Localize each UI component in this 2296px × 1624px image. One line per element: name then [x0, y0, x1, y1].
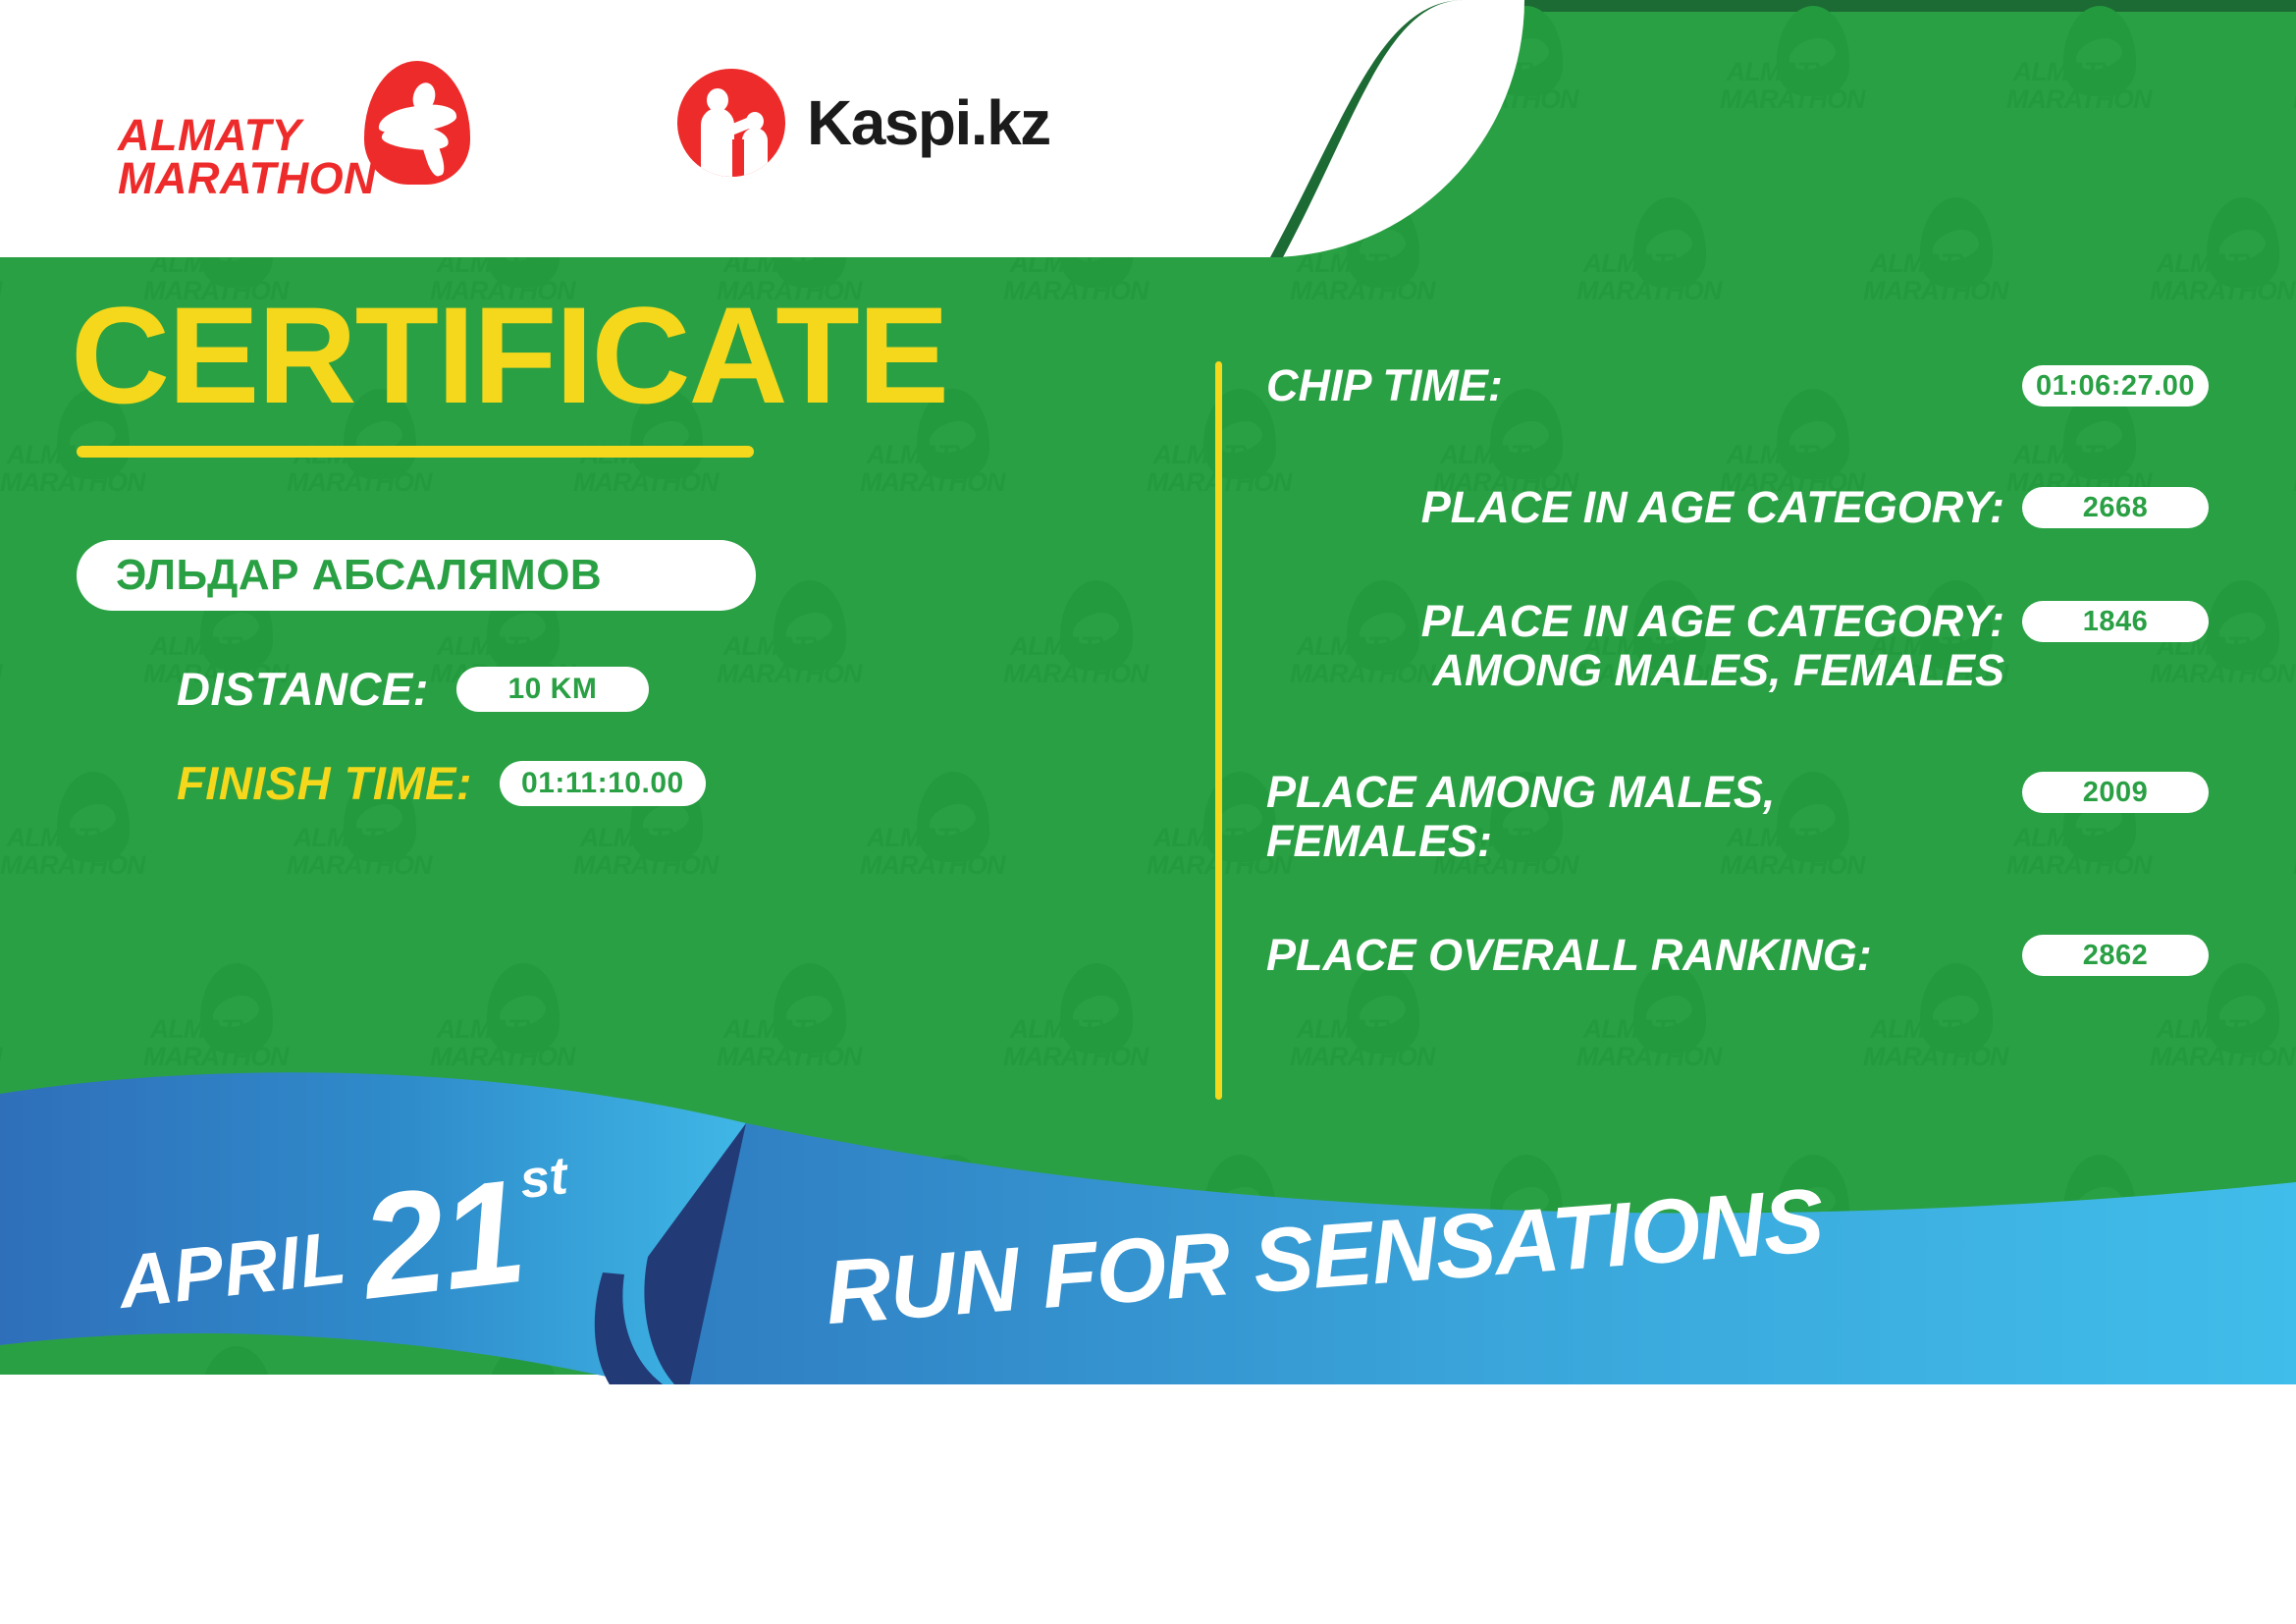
results-column: CHIP TIME: 01:06:27.00 PLACE IN AGE CATE…	[1266, 361, 2209, 1108]
kaspi-wordmark: Kaspi.kz	[807, 86, 1050, 159]
finish-time-value: 01:11:10.00	[521, 767, 684, 800]
kaspi-adult-body	[701, 108, 734, 177]
place-age-category-among-line2: AMONG MALES, FEMALES	[1266, 646, 2004, 695]
vertical-divider	[1215, 361, 1222, 1100]
sponsor-bar	[0, 1384, 2296, 1624]
watermark-runner-icon	[1633, 197, 1706, 288]
distance-value: 10 KM	[507, 673, 597, 706]
watermark-runner-icon	[2207, 580, 2279, 671]
place-age-category-among-value-pill: 1846	[2022, 601, 2209, 642]
title-underline	[77, 446, 754, 458]
place-among-males-females-value: 2009	[2083, 777, 2149, 809]
finish-time-row: FINISH TIME: 01:11:10.00	[177, 756, 706, 810]
event-day: 21	[356, 1167, 529, 1312]
almaty-marathon-line1: ALMATY	[118, 114, 376, 157]
watermark-tile: ALMATYMARATHON	[2150, 203, 2266, 321]
watermark-runner-icon	[2207, 963, 2279, 1054]
place-age-category-label: PLACE IN AGE CATEGORY:	[1266, 483, 2022, 532]
participant-name-field: ЭЛЬДАР АБСАЛЯМОВ	[77, 540, 756, 611]
participant-name-value: ЭЛЬДАР АБСАЛЯМОВ	[116, 551, 602, 600]
watermark-text: ALMATYMARATHON	[2150, 203, 2266, 304]
place-age-category-value-pill: 2668	[2022, 487, 2209, 528]
watermark-runner-icon	[2063, 6, 2136, 96]
event-month: APRIL	[114, 1215, 350, 1326]
place-age-category-value: 2668	[2083, 492, 2149, 524]
running-man-icon	[364, 61, 470, 185]
watermark-runner-icon	[1777, 6, 1849, 96]
almaty-marathon-logo: ALMATY MARATHON	[118, 61, 470, 200]
watermark-text: ALMATYMARATHON	[1720, 12, 1836, 113]
watermark-runner-icon	[1920, 197, 1993, 288]
place-age-category-among-line1: PLACE IN AGE CATEGORY:	[1266, 597, 2004, 646]
watermark-text: ALMATYMARATHON	[2006, 12, 2122, 113]
distance-value-pill: 10 KM	[456, 667, 649, 712]
watermark-tile: ALMATYMARATHON	[1863, 203, 1979, 321]
place-overall-value: 2862	[2083, 940, 2149, 972]
header-curve-shape	[1207, 0, 1463, 257]
certificate-page: ALMATYMARATHONALMATYMARATHONALMATYMARATH…	[0, 0, 2296, 1624]
chip-time-value-pill: 01:06:27.00	[2022, 365, 2209, 406]
chip-time-value: 01:06:27.00	[2036, 370, 2195, 403]
place-overall-value-pill: 2862	[2022, 935, 2209, 976]
place-among-males-females-line2: FEMALES:	[1266, 817, 2022, 866]
finish-time-value-pill: 01:11:10.00	[500, 761, 706, 806]
event-day-ordinal: st	[516, 1145, 570, 1211]
left-column: CERTIFICATE ЭЛЬДАР АБСАЛЯМОВ DISTANCE: 1…	[0, 257, 1207, 1102]
result-row-place-age-category-among: PLACE IN AGE CATEGORY: AMONG MALES, FEMA…	[1266, 597, 2209, 694]
watermark-tile: ALMATYMARATHON	[1720, 12, 1836, 130]
page-title: CERTIFICATE	[71, 287, 947, 424]
watermark-text: ALMATYMARATHON	[1863, 203, 1979, 304]
result-row-place-among-males-females: PLACE AMONG MALES, FEMALES: 2009	[1266, 768, 2209, 865]
kaspi-gap	[732, 139, 744, 177]
place-overall-label: PLACE OVERALL RANKING:	[1266, 931, 2022, 980]
result-row-chip-time: CHIP TIME: 01:06:27.00	[1266, 361, 2209, 410]
watermark-runner-icon	[2207, 197, 2279, 288]
place-age-category-among-label: PLACE IN AGE CATEGORY: AMONG MALES, FEMA…	[1266, 597, 2022, 694]
finish-time-label: FINISH TIME:	[177, 756, 472, 810]
distance-label: DISTANCE:	[177, 662, 429, 716]
result-row-place-overall: PLACE OVERALL RANKING: 2862	[1266, 931, 2209, 980]
result-row-place-age-category: PLACE IN AGE CATEGORY: 2668	[1266, 483, 2209, 532]
place-among-males-females-label: PLACE AMONG MALES, FEMALES:	[1266, 768, 2022, 865]
kaspi-child-body	[742, 128, 768, 177]
distance-row: DISTANCE: 10 KM	[177, 662, 649, 716]
chip-time-label: CHIP TIME:	[1266, 361, 2022, 410]
almaty-marathon-line2: MARATHON	[118, 157, 376, 200]
place-age-category-among-value: 1846	[2083, 606, 2149, 638]
almaty-marathon-wordmark: ALMATY MARATHON	[118, 114, 376, 200]
watermark-tile: ALMATYMARATHON	[1576, 203, 1692, 321]
place-among-males-females-line1: PLACE AMONG MALES,	[1266, 768, 2022, 817]
kaspi-logo: Kaspi.kz	[677, 69, 1050, 177]
place-among-males-females-value-pill: 2009	[2022, 772, 2209, 813]
watermark-text: ALMATYMARATHON	[1576, 203, 1692, 304]
watermark-tile: ALMATYMARATHON	[2006, 12, 2122, 130]
kaspi-people-icon	[677, 69, 785, 177]
